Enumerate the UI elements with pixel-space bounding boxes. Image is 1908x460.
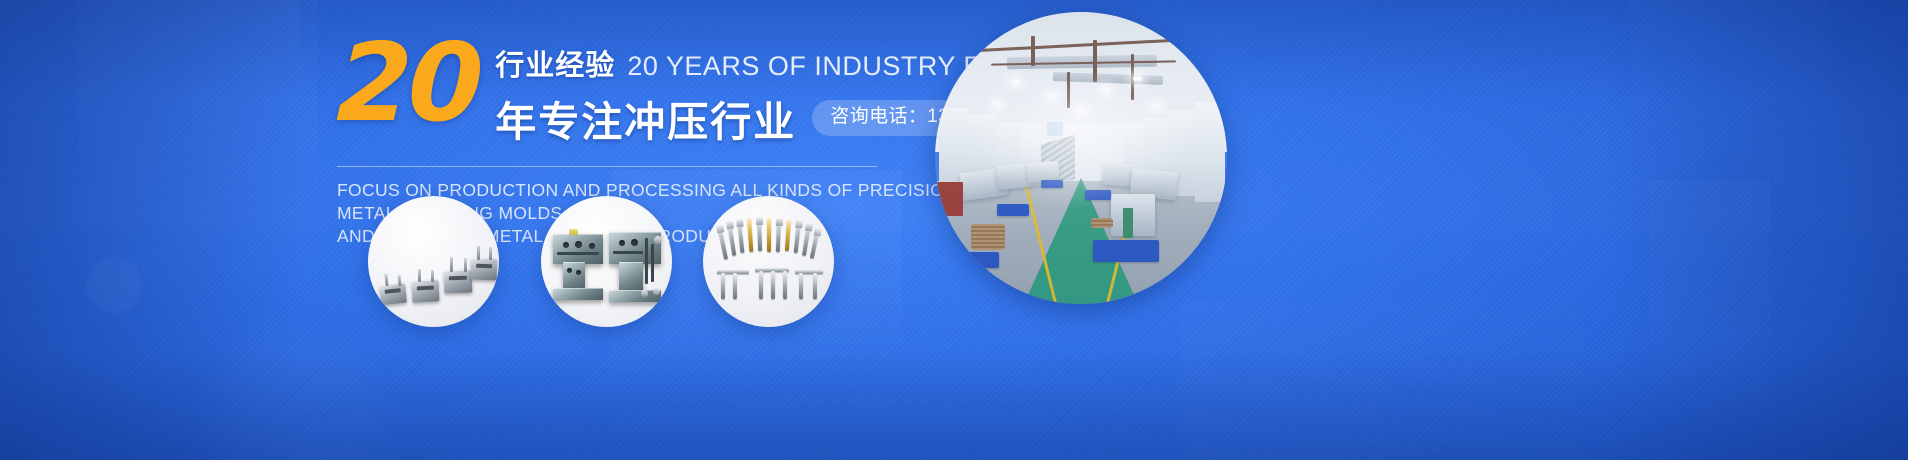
stamping-die-parts <box>541 196 672 327</box>
crimp-terminal-parts <box>703 196 834 327</box>
cn-focus-label: 年专注冲压行业 <box>495 88 796 148</box>
factory-lamp-6 <box>993 102 1002 107</box>
factory-lamp-7 <box>1153 104 1162 109</box>
years-number: 20 <box>335 38 481 130</box>
factory-window <box>1047 122 1063 136</box>
factory-pallet-2 <box>959 252 999 268</box>
factory-lamp-3 <box>1077 108 1086 113</box>
factory-green-unit <box>1123 208 1133 238</box>
factory-lamp-2 <box>1047 94 1056 99</box>
factory-pallet-5 <box>1041 180 1063 188</box>
factory-pipe-4 <box>1093 40 1097 82</box>
factory-pipe-6 <box>1067 72 1070 108</box>
usb-connector-parts <box>368 196 499 327</box>
promo-banner: 20 行业经验 20 YEARS OF INDUSTRY EXPERIENCE … <box>0 0 1908 460</box>
product-circle-usb-connector-shells <box>368 196 499 327</box>
factory-red-unit <box>937 182 963 216</box>
factory-steel-coil-1 <box>971 224 1005 250</box>
factory-pallet-3 <box>1085 190 1111 200</box>
factory-machine-r3 <box>1111 194 1155 236</box>
cn-experience-label: 行业经验 <box>495 42 615 84</box>
factory-pallet-4 <box>1093 240 1159 262</box>
product-circle-crimp-terminals <box>703 196 834 327</box>
factory-lamp-1 <box>1011 80 1020 85</box>
factory-pipe-3 <box>1031 36 1035 66</box>
product-circle-stamping-die <box>541 196 672 327</box>
factory-workshop-photo <box>935 12 1227 304</box>
factory-lamp-5 <box>1133 76 1142 81</box>
factory-pallet-1 <box>997 204 1029 216</box>
factory-steel-coil-2 <box>1091 218 1113 228</box>
headline-divider <box>337 166 877 167</box>
factory-partition-r1 <box>1195 102 1225 202</box>
factory-lamp-4 <box>1101 88 1110 93</box>
